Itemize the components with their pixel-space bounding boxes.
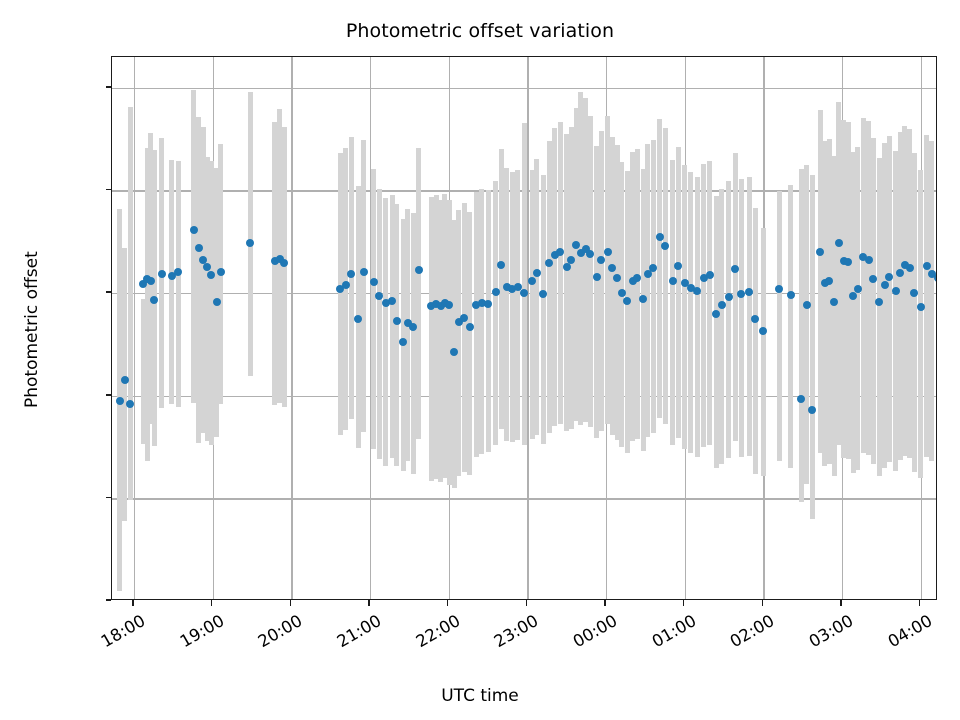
error-bar	[676, 147, 681, 437]
error-bar	[510, 172, 515, 442]
data-point	[892, 287, 900, 295]
error-bar	[695, 177, 700, 457]
error-bar	[169, 160, 174, 404]
data-point	[450, 348, 458, 356]
data-point	[213, 298, 221, 306]
error-bar	[467, 212, 472, 475]
data-point	[604, 248, 612, 256]
x-tick-label: 22:00	[400, 611, 463, 658]
error-bar	[547, 141, 552, 433]
error-bar	[588, 116, 593, 427]
data-point	[484, 300, 492, 308]
error-bar	[918, 170, 923, 478]
data-point	[347, 270, 355, 278]
data-point	[896, 269, 904, 277]
error-bar	[887, 136, 892, 462]
figure-canvas: Photometric offset variation 13.113.213.…	[0, 0, 960, 720]
data-point	[835, 239, 843, 247]
error-bar	[248, 92, 253, 376]
x-tick-label: 21:00	[321, 611, 384, 658]
error-bar	[479, 189, 484, 454]
data-point	[492, 288, 500, 296]
x-tick-mark	[290, 600, 292, 606]
error-bar	[552, 128, 557, 427]
error-bar	[486, 190, 491, 452]
y-tick-mark	[106, 86, 112, 88]
error-bar	[128, 107, 133, 500]
data-point	[466, 323, 474, 331]
error-bar	[456, 210, 461, 476]
data-point	[520, 289, 528, 297]
error-bar	[733, 153, 738, 440]
error-bar	[804, 165, 809, 484]
error-bar	[714, 196, 719, 468]
data-point	[126, 400, 134, 408]
data-point	[342, 281, 350, 289]
error-bar	[912, 153, 917, 471]
error-bar	[349, 137, 354, 419]
error-bar	[707, 161, 712, 445]
error-bar	[761, 228, 766, 475]
plot-area	[111, 56, 937, 600]
x-tick-label: 20:00	[243, 611, 306, 658]
y-tick-mark	[106, 394, 112, 396]
error-bar	[504, 168, 509, 441]
data-point	[917, 303, 925, 311]
data-point	[556, 248, 564, 256]
error-bar	[371, 169, 376, 449]
error-bar	[861, 118, 866, 454]
x-axis-label: UTC time	[0, 686, 960, 706]
error-bar	[799, 169, 804, 503]
data-point	[649, 264, 657, 272]
error-bar	[877, 158, 882, 476]
data-layer	[112, 57, 936, 599]
x-tick-mark	[919, 600, 921, 606]
x-tick-mark	[211, 600, 213, 606]
data-point	[618, 289, 626, 297]
error-bar	[625, 171, 630, 453]
data-point	[693, 287, 701, 295]
data-point	[854, 285, 862, 293]
x-tick-label: 01:00	[636, 611, 699, 658]
data-point	[656, 233, 664, 241]
error-bar	[936, 147, 938, 465]
y-tick-mark	[106, 497, 112, 499]
data-point	[759, 327, 767, 335]
x-tick-mark	[447, 600, 449, 606]
error-bar	[493, 181, 498, 445]
error-bar	[416, 148, 421, 438]
error-bar	[474, 192, 479, 457]
error-bar	[645, 144, 650, 437]
data-point	[712, 310, 720, 318]
data-point	[885, 273, 893, 281]
error-bar	[361, 140, 366, 432]
data-point	[816, 248, 824, 256]
data-point	[745, 288, 753, 296]
data-point	[150, 296, 158, 304]
data-point	[147, 277, 155, 285]
data-point	[674, 262, 682, 270]
error-bar	[405, 209, 410, 461]
error-bar	[619, 162, 624, 447]
data-point	[934, 274, 937, 282]
error-bar	[739, 179, 744, 457]
data-point	[158, 270, 166, 278]
error-bar	[929, 141, 934, 461]
data-point	[207, 271, 215, 279]
x-tick-mark	[604, 600, 606, 606]
x-tick-label: 02:00	[715, 611, 778, 658]
data-point	[613, 274, 621, 282]
error-bar	[657, 119, 662, 419]
data-point	[669, 277, 677, 285]
error-bar	[810, 175, 815, 519]
x-tick-mark	[132, 600, 134, 606]
page-title: Photometric offset variation	[0, 20, 960, 42]
data-point	[246, 239, 254, 247]
x-tick-mark	[526, 600, 528, 606]
error-bar	[522, 123, 527, 445]
y-axis-label: Photometric offset	[22, 251, 42, 408]
data-point	[375, 292, 383, 300]
x-tick-label: 00:00	[557, 611, 620, 658]
y-tick-mark	[106, 599, 112, 601]
error-bar	[777, 191, 782, 461]
data-point	[528, 277, 536, 285]
error-bar	[719, 189, 724, 464]
data-point	[572, 241, 580, 249]
y-tick-mark	[106, 189, 112, 191]
error-bar	[462, 203, 467, 472]
data-point	[370, 278, 378, 286]
error-bar	[534, 159, 539, 435]
error-bar	[377, 189, 382, 459]
data-point	[731, 265, 739, 273]
data-point	[593, 273, 601, 281]
error-bar	[682, 165, 687, 449]
x-tick-mark	[683, 600, 685, 606]
data-point	[881, 281, 889, 289]
data-point	[393, 317, 401, 325]
y-tick-mark	[106, 291, 112, 293]
x-tick-label: 04:00	[872, 611, 935, 658]
error-bar	[383, 198, 388, 466]
data-point	[195, 244, 203, 252]
error-bar	[635, 149, 640, 438]
error-bar	[176, 161, 181, 407]
data-point	[415, 266, 423, 274]
error-bar	[411, 213, 416, 474]
error-bar	[541, 175, 546, 444]
data-point	[116, 397, 124, 405]
error-bar	[701, 164, 706, 447]
error-bar	[394, 204, 399, 466]
x-tick-mark	[368, 600, 370, 606]
data-point	[539, 290, 547, 298]
data-point	[121, 376, 129, 384]
error-bar	[558, 122, 563, 425]
data-point	[533, 269, 541, 277]
data-point	[737, 290, 745, 298]
x-tick-mark	[840, 600, 842, 606]
data-point	[725, 293, 733, 301]
x-tick-label: 19:00	[164, 611, 227, 658]
error-bar	[122, 248, 127, 521]
x-tick-label: 18:00	[85, 611, 148, 658]
error-bar	[515, 170, 520, 440]
error-bar	[726, 181, 731, 458]
data-point	[360, 268, 368, 276]
data-point	[787, 291, 795, 299]
error-bar	[670, 160, 675, 445]
error-bar	[663, 128, 668, 425]
data-point	[706, 271, 714, 279]
x-tick-mark	[762, 600, 764, 606]
data-point	[775, 285, 783, 293]
error-bar	[338, 153, 343, 434]
data-point	[661, 242, 669, 250]
data-point	[865, 256, 873, 264]
data-point	[597, 256, 605, 264]
error-bar	[855, 147, 860, 469]
error-bar	[753, 208, 758, 474]
data-point	[808, 406, 816, 414]
error-bar	[651, 140, 656, 433]
data-point	[174, 268, 182, 276]
data-point	[718, 301, 726, 309]
error-bar	[688, 172, 693, 453]
data-point	[910, 289, 918, 297]
data-point	[797, 395, 805, 403]
x-tick-label: 23:00	[479, 611, 542, 658]
data-point	[217, 268, 225, 276]
data-point	[751, 315, 759, 323]
error-bar	[599, 131, 604, 431]
x-tick-label: 03:00	[793, 611, 856, 658]
data-point	[586, 250, 594, 258]
error-bar	[788, 185, 793, 467]
data-point	[280, 259, 288, 267]
data-point	[354, 315, 362, 323]
